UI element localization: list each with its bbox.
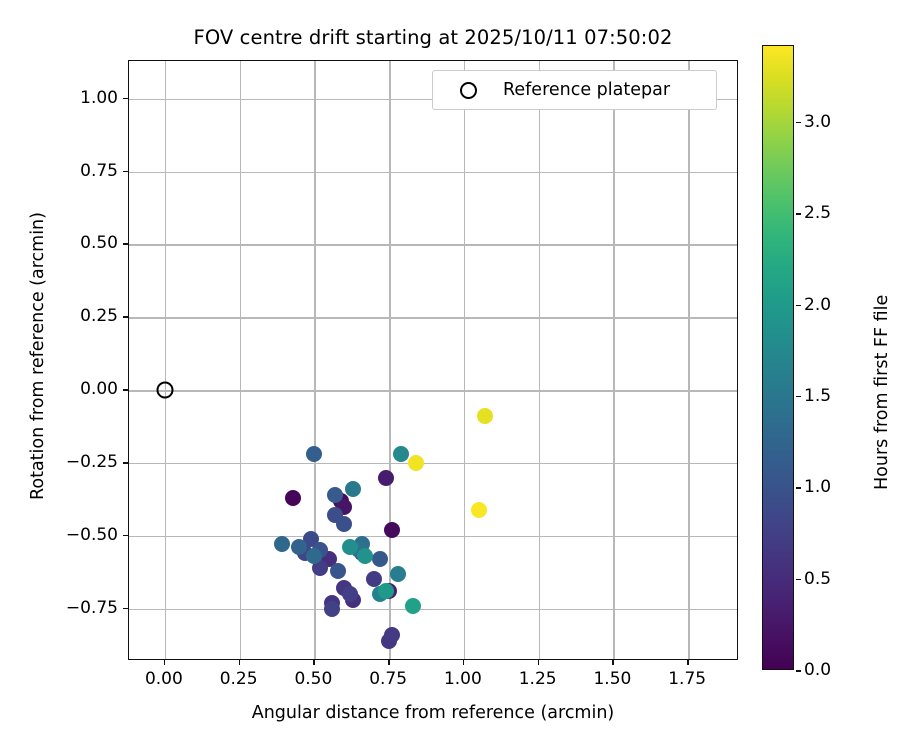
x-axis-tick	[612, 660, 614, 665]
x-axis-tick-label: 1.50	[593, 669, 631, 689]
gridline-vertical	[240, 61, 241, 659]
colorbar	[762, 45, 794, 670]
scatter-point	[384, 627, 400, 643]
x-axis-tick	[164, 660, 166, 665]
x-axis-tick	[388, 660, 390, 665]
figure-canvas: FOV centre drift starting at 2025/10/11 …	[0, 0, 900, 750]
x-axis-tick-label: 1.00	[444, 669, 482, 689]
gridline-vertical	[464, 61, 465, 659]
scatter-point	[330, 563, 346, 579]
colorbar-tick-label: 0.5	[804, 569, 831, 589]
y-axis-tick	[123, 535, 128, 537]
colorbar-tick	[796, 579, 801, 581]
scatter-point	[327, 487, 343, 503]
x-axis-tick	[313, 660, 315, 665]
scatter-point	[384, 522, 400, 538]
colorbar-tick-label: 2.0	[804, 295, 831, 315]
scatter-point	[372, 551, 388, 567]
x-axis-tick-label: 1.75	[668, 669, 706, 689]
x-axis-tick-label: 0.50	[294, 669, 332, 689]
colorbar-tick-label: 2.5	[804, 203, 831, 223]
reference-platepar-marker	[156, 382, 173, 399]
scatter-point	[274, 536, 290, 552]
scatter-point	[378, 470, 394, 486]
y-axis-tick-label: 1.00	[28, 88, 118, 108]
gridline-horizontal	[129, 172, 737, 173]
x-axis-tick-label: 0.75	[369, 669, 407, 689]
x-axis-tick-label: 0.00	[145, 669, 183, 689]
gridline-horizontal	[129, 463, 737, 464]
y-axis-tick	[123, 243, 128, 245]
colorbar-tick	[796, 122, 801, 124]
colorbar-tick	[796, 213, 801, 215]
y-axis-label: Rotation from reference (arcmin)	[28, 212, 48, 500]
scatter-point	[393, 446, 409, 462]
y-axis-tick	[123, 98, 128, 100]
reference-platepar-circle-icon	[460, 82, 477, 99]
scatter-point	[477, 408, 493, 424]
gridline-vertical	[539, 61, 540, 659]
scatter-point	[306, 446, 322, 462]
colorbar-tick-label: 3.0	[804, 112, 831, 132]
y-axis-tick-label: 0.75	[28, 161, 118, 181]
y-axis-tick	[123, 316, 128, 318]
colorbar-tick	[796, 670, 801, 672]
colorbar-tick-label: 1.5	[804, 386, 831, 406]
y-axis-tick	[123, 171, 128, 173]
page-title: FOV centre drift starting at 2025/10/11 …	[128, 26, 738, 49]
colorbar-label: Hours from first FF file	[872, 295, 892, 490]
colorbar-gradient	[763, 46, 793, 669]
gridline-vertical	[165, 61, 166, 659]
x-axis-tick	[538, 660, 540, 665]
gridline-horizontal	[129, 390, 737, 391]
colorbar-tick	[796, 396, 801, 398]
y-axis-tick-label: −0.75	[28, 598, 118, 618]
scatter-point	[342, 539, 358, 555]
scatter-point	[378, 583, 394, 599]
legend[interactable]: Reference platepar	[432, 70, 717, 110]
legend-marker-wrap	[433, 82, 503, 99]
gridline-horizontal	[129, 317, 737, 318]
gridline-vertical	[688, 61, 689, 659]
scatter-point	[306, 548, 322, 564]
colorbar-tick-label: 0.0	[804, 660, 831, 680]
x-axis-tick	[239, 660, 241, 665]
y-axis-tick	[123, 462, 128, 464]
scatter-point	[291, 539, 307, 555]
gridline-horizontal	[129, 244, 737, 245]
x-axis-tick	[687, 660, 689, 665]
gridline-horizontal	[129, 609, 737, 610]
x-axis-tick-label: 0.25	[220, 669, 258, 689]
colorbar-tick	[796, 487, 801, 489]
scatter-point	[345, 481, 361, 497]
x-axis-tick-label: 1.25	[519, 669, 557, 689]
scatter-point	[405, 598, 421, 614]
scatter-point	[357, 548, 373, 564]
scatter-point	[285, 490, 301, 506]
gridline-vertical	[613, 61, 614, 659]
scatter-point	[324, 601, 340, 617]
legend-entry-label: Reference platepar	[503, 80, 670, 100]
colorbar-tick-label: 1.0	[804, 477, 831, 497]
scatter-point	[342, 586, 358, 602]
scatter-point	[390, 566, 406, 582]
y-axis-tick	[123, 608, 128, 610]
colorbar-tick	[796, 305, 801, 307]
scatter-point	[336, 516, 352, 532]
scatter-point	[408, 455, 424, 471]
x-axis-label: Angular distance from reference (arcmin)	[128, 703, 738, 723]
y-axis-tick-label: −0.50	[28, 525, 118, 545]
scatter-plot-axes	[128, 60, 738, 660]
y-axis-tick	[123, 389, 128, 391]
scatter-point	[471, 502, 487, 518]
x-axis-tick	[463, 660, 465, 665]
gridline-horizontal	[129, 536, 737, 537]
